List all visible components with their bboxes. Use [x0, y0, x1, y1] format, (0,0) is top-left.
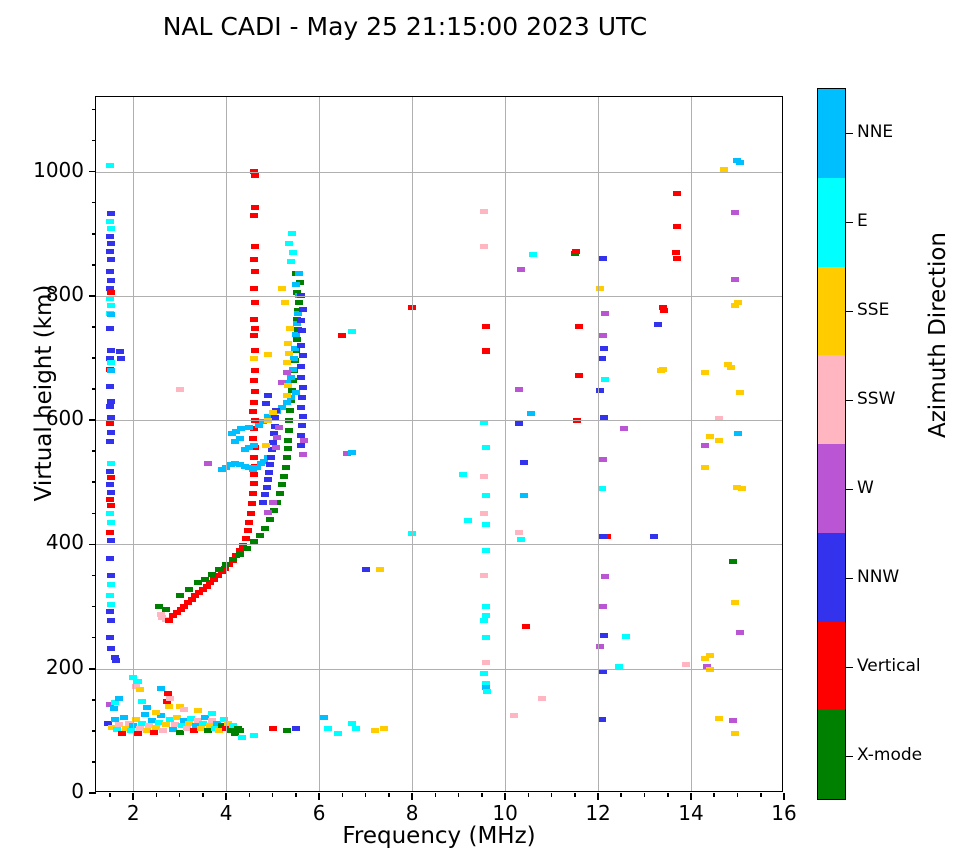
y-axis-tick: [89, 668, 96, 670]
scatter-point: [264, 477, 272, 482]
scatter-point: [107, 618, 115, 623]
scatter-point: [515, 530, 523, 535]
scatter-point: [117, 356, 125, 361]
scatter-point: [515, 387, 523, 392]
x-axis-minor-tick: [620, 793, 622, 797]
x-axis-minor-tick: [435, 793, 437, 797]
x-axis-minor-tick: [667, 793, 669, 797]
scatter-point: [510, 713, 518, 718]
scatter-point: [297, 343, 305, 348]
scatter-point: [286, 326, 294, 331]
scatter-point: [256, 533, 264, 538]
x-axis-tick: [504, 793, 506, 800]
scatter-point: [480, 474, 488, 479]
y-axis-minor-tick: [92, 513, 96, 515]
scatter-point: [264, 510, 272, 515]
scatter-point: [281, 300, 289, 305]
ionogram-figure: NAL CADI - May 25 21:15:00 2023 UTC 2468…: [0, 0, 958, 857]
scatter-point: [106, 384, 114, 389]
scatter-point: [517, 537, 525, 542]
scatter-point: [106, 219, 114, 224]
x-axis-tick: [132, 793, 134, 800]
scatter-point: [107, 520, 115, 525]
x-axis-minor-tick: [156, 793, 158, 797]
scatter-point: [352, 726, 360, 731]
scatter-point: [106, 482, 114, 487]
colorbar-tick: [846, 222, 853, 224]
scatter-point: [278, 286, 286, 291]
colorbar-segment-nnw: [818, 533, 845, 622]
scatter-point: [106, 326, 114, 331]
scatter-point: [280, 474, 288, 479]
scatter-point: [185, 587, 193, 592]
x-axis-tick: [411, 793, 413, 800]
y-axis-minor-tick: [92, 264, 96, 266]
gridline-horizontal: [96, 296, 782, 297]
y-axis-minor-tick: [92, 109, 96, 111]
scatter-point: [299, 452, 307, 457]
scatter-point: [729, 718, 737, 723]
scatter-point: [482, 635, 490, 640]
scatter-point: [273, 435, 281, 440]
scatter-point: [250, 443, 258, 448]
scatter-point: [701, 656, 709, 661]
scatter-point: [348, 329, 356, 334]
scatter-point: [106, 593, 114, 598]
x-axis-minor-tick: [272, 793, 274, 797]
scatter-point: [272, 445, 280, 450]
scatter-point: [482, 445, 490, 450]
scatter-point: [250, 378, 258, 383]
y-axis-tick: [89, 419, 96, 421]
scatter-point: [250, 472, 258, 477]
plot-area: 24681012141602004006008001000: [95, 96, 783, 792]
gridline-vertical: [226, 97, 227, 791]
scatter-point: [107, 303, 115, 308]
scatter-point: [250, 286, 258, 291]
scatter-point: [165, 704, 173, 709]
scatter-point: [107, 278, 115, 283]
scatter-point: [244, 528, 252, 533]
scatter-point: [297, 318, 305, 323]
scatter-point: [162, 607, 170, 612]
gridline-vertical: [691, 97, 692, 791]
scatter-point: [236, 728, 244, 733]
scatter-point: [107, 602, 115, 607]
scatter-point: [259, 500, 267, 505]
scatter-layer: [96, 97, 782, 791]
x-axis-minor-tick: [528, 793, 530, 797]
colorbar-tick: [846, 400, 853, 402]
scatter-point: [266, 462, 274, 467]
scatter-point: [299, 353, 307, 358]
scatter-point: [297, 375, 305, 380]
y-axis-minor-tick: [92, 326, 96, 328]
gridline-horizontal: [96, 172, 782, 173]
scatter-point: [482, 604, 490, 609]
scatter-point: [106, 469, 114, 474]
scatter-point: [264, 393, 272, 398]
scatter-point: [107, 312, 115, 317]
scatter-point: [482, 522, 490, 527]
scatter-point: [599, 457, 607, 462]
scatter-point: [236, 436, 244, 441]
scatter-point: [107, 226, 115, 231]
scatter-point: [286, 408, 294, 413]
y-axis-minor-tick: [92, 140, 96, 142]
scatter-point: [297, 405, 305, 410]
scatter-point: [482, 493, 490, 498]
colorbar-segment-ssw: [818, 355, 845, 444]
colorbar-segment-x-mode: [818, 710, 845, 799]
scatter-point: [601, 574, 609, 579]
scatter-point: [176, 593, 184, 598]
scatter-point: [299, 414, 307, 419]
y-axis-minor-tick: [92, 357, 96, 359]
scatter-point: [245, 520, 253, 525]
scatter-point: [673, 191, 681, 196]
scatter-point: [599, 534, 607, 539]
scatter-point: [715, 716, 723, 721]
scatter-point: [736, 390, 744, 395]
scatter-point: [731, 731, 739, 736]
colorbar-tick: [846, 756, 853, 758]
scatter-point: [106, 635, 114, 640]
x-axis-minor-tick: [249, 793, 251, 797]
scatter-point: [251, 300, 259, 305]
scatter-point: [482, 660, 490, 665]
gridline-vertical: [319, 97, 320, 791]
scatter-point: [650, 534, 658, 539]
scatter-point: [107, 430, 115, 435]
scatter-point: [575, 373, 583, 378]
scatter-point: [118, 731, 126, 736]
scatter-point: [464, 518, 472, 523]
y-axis-minor-tick: [92, 233, 96, 235]
scatter-point: [482, 548, 490, 553]
scatter-point: [599, 333, 607, 338]
scatter-point: [107, 646, 115, 651]
scatter-point: [733, 485, 741, 490]
scatter-point: [249, 436, 257, 441]
page-title: NAL CADI - May 25 21:15:00 2023 UTC: [0, 12, 810, 41]
scatter-point: [480, 618, 488, 623]
scatter-point: [194, 708, 202, 713]
scatter-point: [262, 401, 270, 406]
x-axis-tick: [225, 793, 227, 800]
scatter-point: [380, 726, 388, 731]
scatter-point: [736, 160, 744, 165]
scatter-point: [249, 409, 257, 414]
scatter-point: [482, 324, 490, 329]
colorbar-label-sse: SSE: [857, 300, 889, 320]
x-axis-minor-tick: [737, 793, 739, 797]
scatter-point: [362, 567, 370, 572]
x-axis-tick-label: 8: [382, 801, 442, 825]
x-axis-minor-tick: [713, 793, 715, 797]
scatter-point: [483, 689, 491, 694]
scatter-point: [673, 256, 681, 261]
scatter-point: [287, 375, 295, 380]
y-axis-tick: [89, 792, 96, 794]
scatter-point: [298, 395, 306, 400]
scatter-point: [320, 715, 328, 720]
colorbar-segment-e: [818, 178, 845, 267]
scatter-point: [538, 696, 546, 701]
y-axis-tick: [89, 171, 96, 173]
scatter-point: [736, 630, 744, 635]
colorbar-title: Azimuth Direction: [925, 190, 951, 480]
colorbar-segment-nne: [818, 89, 845, 178]
colorbar-segment-w: [818, 444, 845, 533]
x-axis-tick-label: 14: [661, 801, 721, 825]
scatter-point: [250, 481, 258, 486]
scatter-point: [599, 256, 607, 261]
scatter-point: [237, 426, 245, 431]
scatter-point: [480, 244, 488, 249]
y-axis-minor-tick: [92, 481, 96, 483]
scatter-point: [295, 271, 303, 276]
scatter-point: [660, 308, 668, 313]
scatter-point: [262, 443, 270, 448]
scatter-point: [283, 400, 291, 405]
scatter-point: [106, 511, 114, 516]
scatter-point: [251, 368, 259, 373]
y-axis-label: Virtual height (km): [31, 253, 57, 533]
scatter-point: [115, 696, 123, 701]
scatter-point: [275, 425, 283, 430]
scatter-point: [324, 726, 332, 731]
scatter-point: [106, 421, 114, 426]
scatter-point: [295, 300, 303, 305]
scatter-point: [283, 728, 291, 733]
scatter-point: [727, 365, 735, 370]
scatter-point: [107, 241, 115, 246]
colorbar-segment-vertical: [818, 622, 845, 711]
colorbar: [817, 88, 846, 800]
y-axis-tick-label: 1000: [0, 158, 84, 182]
scatter-point: [290, 356, 298, 361]
scatter-point: [159, 728, 167, 733]
scatter-point: [284, 383, 292, 388]
colorbar-label-vertical: Vertical: [857, 656, 921, 676]
scatter-point: [251, 205, 259, 210]
scatter-point: [287, 259, 295, 264]
scatter-point: [283, 360, 291, 365]
scatter-point: [682, 662, 690, 667]
scatter-point: [298, 328, 306, 333]
scatter-point: [731, 210, 739, 215]
x-axis-tick: [690, 793, 692, 800]
scatter-point: [106, 163, 114, 168]
colorbar-tick: [846, 578, 853, 580]
scatter-point: [575, 324, 583, 329]
scatter-point: [299, 307, 307, 312]
scatter-point: [734, 431, 742, 436]
y-axis-tick: [89, 295, 96, 297]
scatter-point: [208, 711, 216, 716]
scatter-point: [106, 269, 114, 274]
scatter-point: [601, 377, 609, 382]
colorbar-tick: [846, 489, 853, 491]
scatter-point: [107, 538, 115, 543]
scatter-point: [529, 252, 537, 257]
scatter-point: [278, 482, 286, 487]
scatter-point: [107, 503, 115, 508]
scatter-point: [731, 303, 739, 308]
colorbar-segment-sse: [818, 267, 845, 356]
scatter-point: [600, 346, 608, 351]
scatter-point: [166, 696, 174, 701]
scatter-point: [520, 460, 528, 465]
y-axis-minor-tick: [92, 202, 96, 204]
scatter-point: [600, 633, 608, 638]
scatter-point: [106, 249, 114, 254]
scatter-point: [243, 546, 251, 551]
scatter-point: [249, 491, 257, 496]
scatter-point: [176, 387, 184, 392]
y-axis-tick: [89, 544, 96, 546]
scatter-point: [263, 485, 271, 490]
x-axis-minor-tick: [388, 793, 390, 797]
scatter-point: [276, 491, 284, 496]
x-axis-tick: [597, 793, 599, 800]
x-axis-tick-label: 16: [754, 801, 814, 825]
scatter-point: [297, 443, 305, 448]
scatter-point: [165, 618, 173, 623]
scatter-point: [334, 731, 342, 736]
gridline-horizontal: [96, 420, 782, 421]
colorbar-label-w: W: [857, 478, 874, 498]
x-axis-minor-tick: [109, 793, 111, 797]
scatter-point: [572, 249, 580, 254]
scatter-point: [517, 267, 525, 272]
scatter-point: [215, 567, 223, 572]
scatter-point: [267, 455, 275, 460]
scatter-point: [289, 250, 297, 255]
colorbar-label-ssw: SSW: [857, 389, 895, 409]
x-axis-tick-label: 4: [196, 801, 256, 825]
y-axis-minor-tick: [92, 606, 96, 608]
scatter-point: [106, 609, 114, 614]
scatter-point: [107, 290, 115, 295]
scatter-point: [266, 517, 274, 522]
scatter-point: [251, 244, 259, 249]
scatter-point: [282, 465, 290, 470]
x-axis-minor-tick: [760, 793, 762, 797]
scatter-point: [292, 726, 300, 731]
scatter-point: [480, 511, 488, 516]
scatter-point: [348, 450, 356, 455]
scatter-point: [250, 213, 258, 218]
scatter-point: [261, 492, 269, 497]
scatter-point: [107, 582, 115, 587]
scatter-point: [300, 438, 308, 443]
scatter-point: [729, 559, 737, 564]
scatter-point: [701, 443, 709, 448]
scatter-point: [106, 497, 114, 502]
scatter-point: [269, 500, 277, 505]
scatter-point: [107, 211, 115, 216]
y-axis-minor-tick: [92, 730, 96, 732]
scatter-point: [715, 438, 723, 443]
scatter-point: [251, 348, 259, 353]
scatter-point: [620, 426, 628, 431]
scatter-point: [264, 352, 272, 357]
scatter-point: [601, 311, 609, 316]
y-axis-tick-label: 200: [0, 655, 84, 679]
scatter-point: [250, 257, 258, 262]
scatter-point: [250, 333, 258, 338]
scatter-point: [284, 446, 292, 451]
scatter-point: [106, 556, 114, 561]
scatter-point: [376, 567, 384, 572]
scatter-point: [293, 337, 301, 342]
scatter-point: [107, 368, 115, 373]
scatter-point: [107, 573, 115, 578]
scatter-point: [285, 428, 293, 433]
y-axis-minor-tick: [92, 450, 96, 452]
scatter-point: [283, 455, 291, 460]
x-axis-minor-tick: [551, 793, 553, 797]
scatter-point: [285, 241, 293, 246]
colorbar-tick: [846, 311, 853, 313]
x-axis-minor-tick: [295, 793, 297, 797]
scatter-point: [250, 455, 258, 460]
scatter-point: [599, 604, 607, 609]
x-axis-minor-tick: [644, 793, 646, 797]
colorbar-label-nnw: NNW: [857, 567, 899, 587]
scatter-point: [283, 370, 291, 375]
scatter-point: [250, 317, 258, 322]
scatter-point: [120, 715, 128, 720]
scatter-point: [201, 577, 209, 582]
scatter-point: [731, 277, 739, 282]
x-axis-tick-label: 6: [289, 801, 349, 825]
scatter-point: [143, 705, 151, 710]
scatter-point: [107, 360, 115, 365]
scatter-point: [459, 472, 467, 477]
scatter-point: [107, 257, 115, 262]
scatter-point: [152, 710, 160, 715]
scatter-point: [238, 735, 246, 740]
scatter-point: [482, 348, 490, 353]
scatter-point: [515, 421, 523, 426]
scatter-point: [250, 400, 258, 405]
scatter-point: [261, 526, 269, 531]
y-axis-minor-tick: [92, 388, 96, 390]
x-axis-tick-label: 10: [475, 801, 535, 825]
scatter-point: [285, 351, 293, 356]
scatter-point: [107, 490, 115, 495]
scatter-point: [208, 572, 216, 577]
x-axis-tick: [783, 793, 785, 800]
x-axis-tick-label: 2: [103, 801, 163, 825]
scatter-point: [522, 624, 530, 629]
scatter-point: [204, 461, 212, 466]
scatter-point: [180, 707, 188, 712]
x-axis-tick-label: 12: [568, 801, 628, 825]
scatter-point: [673, 224, 681, 229]
y-axis-tick-label: 0: [0, 779, 84, 803]
scatter-point: [248, 501, 256, 506]
gridline-horizontal: [96, 669, 782, 670]
x-axis-minor-tick: [458, 793, 460, 797]
gridline-vertical: [598, 97, 599, 791]
scatter-point: [292, 282, 300, 287]
gridline-vertical: [133, 97, 134, 791]
scatter-point: [106, 234, 114, 239]
